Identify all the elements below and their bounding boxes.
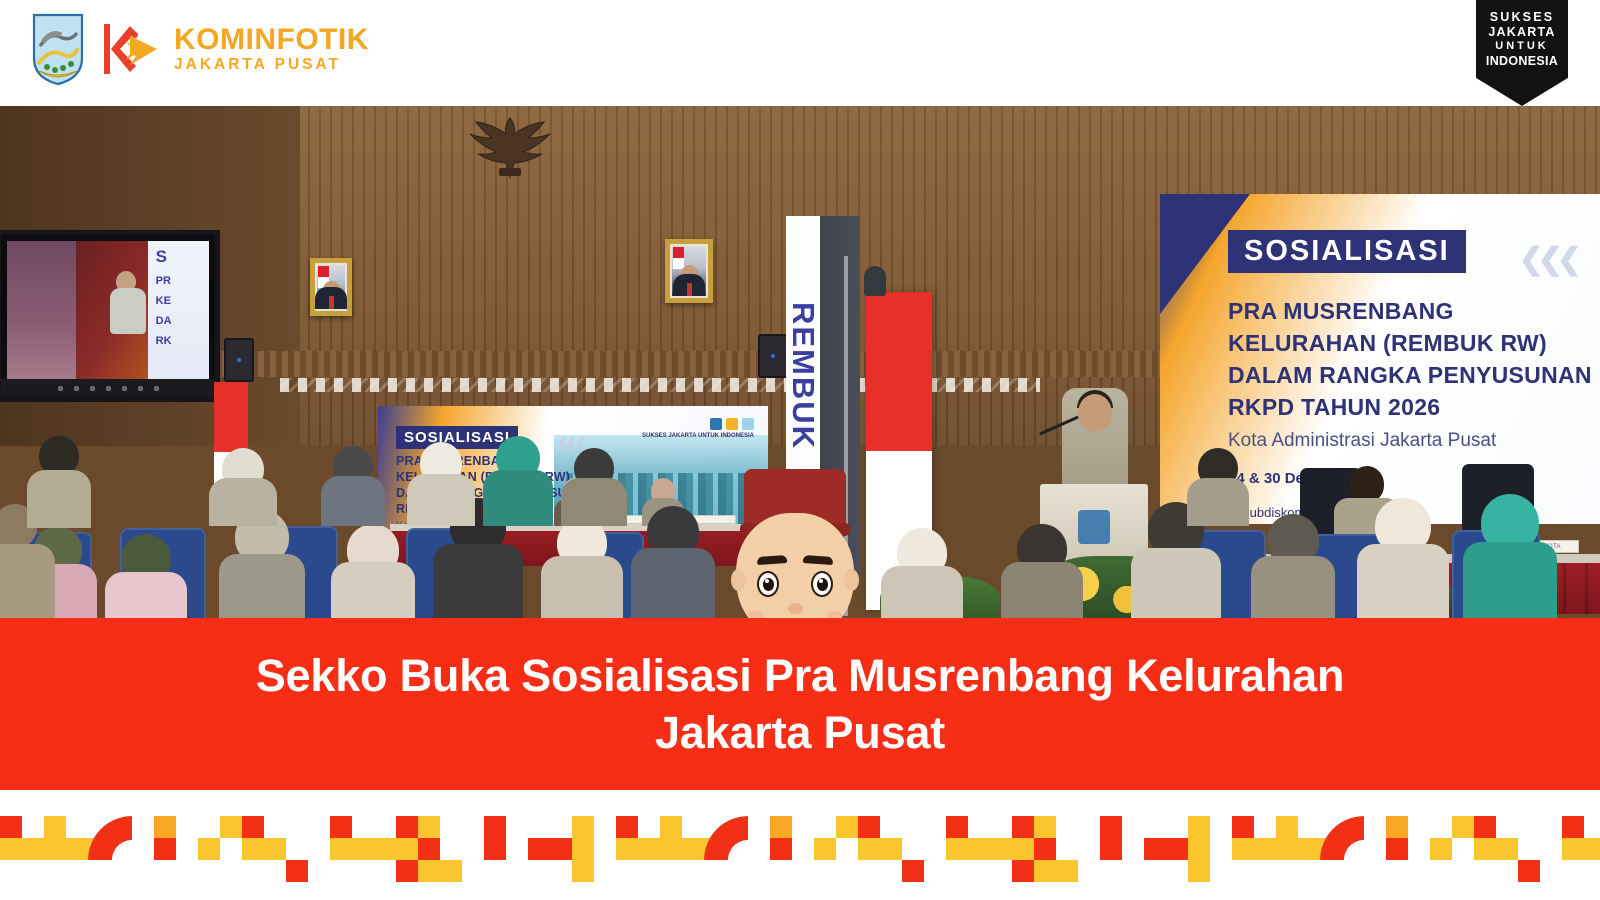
pattern-block: [330, 816, 352, 838]
pattern-block: [1188, 816, 1210, 838]
pattern-block: [814, 838, 836, 860]
pattern-block: [440, 860, 462, 882]
mascot-ear-left: [731, 569, 746, 591]
audience-person: [26, 436, 92, 528]
mascot-eye-right: [811, 571, 833, 597]
pattern-block: [418, 816, 440, 838]
pattern-block: [1034, 816, 1056, 838]
pattern-block: [528, 838, 572, 860]
pattern-block: [902, 860, 924, 882]
pattern-block: [0, 816, 22, 838]
pattern-block: [418, 838, 440, 860]
audience-person: [560, 448, 628, 526]
pattern-block: [770, 838, 792, 860]
video-call-main-view: S PR KE DA RK: [76, 241, 209, 379]
toolbar-record-icon: [138, 386, 143, 391]
speaker-box-right: [758, 334, 788, 378]
pattern-block: [1430, 838, 1452, 860]
pattern-block: [572, 816, 594, 838]
right-banner-line-2: KELURAHAN (REMBUK RW): [1228, 330, 1547, 357]
pattern-block: [572, 860, 594, 882]
pattern-block: [1012, 838, 1034, 860]
pattern-block: [880, 838, 902, 860]
pattern-block: [330, 838, 374, 860]
pattern-block: [44, 838, 66, 860]
jp-info-news-card: KOMINFOTIK JAKARTA PUSAT SUKSES JAKARTA …: [0, 0, 1600, 900]
jp-info-mascot: JP Info: [700, 461, 890, 622]
pattern-block: [836, 816, 858, 838]
audience-person: [208, 448, 278, 526]
event-photograph: S PR KE DA RK: [0, 106, 1600, 622]
pattern-block: [1012, 860, 1034, 882]
pattern-block: [154, 816, 176, 838]
toolbar-video-icon: [74, 386, 79, 391]
screen-text-l2: KE: [156, 295, 171, 307]
toolbar-participants-icon: [90, 386, 95, 391]
pattern-elbow: [88, 816, 132, 860]
video-call-toolbar: [1, 379, 215, 397]
pattern-block: [1518, 860, 1540, 882]
pattern-block: [616, 838, 660, 860]
pattern-block: [1562, 838, 1600, 860]
toolbar-mute-icon: [58, 386, 63, 391]
pattern-block: [418, 860, 440, 882]
badge-line-1: SUKSES: [1490, 11, 1555, 24]
sukses-jakarta-badge: SUKSES JAKARTA UNTUK INDONESIA: [1476, 0, 1568, 106]
jakarta-coat-of-arms-icon: [30, 12, 86, 86]
pattern-block: [484, 816, 506, 860]
pattern-block: [990, 838, 1012, 860]
pattern-block: [1100, 816, 1122, 860]
projector-screen: S PR KE DA RK: [0, 230, 220, 402]
brand-subtitle: JAKARTA PUSAT: [174, 56, 369, 73]
audience-person: [218, 510, 306, 622]
audience-person: [1250, 514, 1336, 622]
badge-line-4: INDONESIA: [1486, 55, 1558, 68]
right-banner-line-1: PRA MUSRENBANG: [1228, 298, 1454, 325]
pattern-block: [220, 816, 242, 838]
speaker-box-left: [224, 338, 254, 382]
pattern-block: [242, 838, 264, 860]
pattern-block: [858, 816, 880, 838]
pattern-block: [1386, 838, 1408, 860]
right-banner-tag: SOSIALISASI: [1228, 230, 1466, 273]
audience-person: [880, 528, 964, 622]
pattern-block: [1386, 816, 1408, 838]
audience-person: [320, 446, 386, 526]
mascot-nose: [788, 603, 803, 614]
audience-person: [1356, 498, 1450, 622]
right-banner-line-3: DALAM RANGKA PENYUSUNAN: [1228, 362, 1592, 389]
mascot-ear-right: [844, 569, 859, 591]
toolbar-share-icon: [122, 386, 127, 391]
audience-person: [482, 436, 554, 526]
pattern-block: [660, 838, 682, 860]
pattern-block: [946, 838, 990, 860]
pattern-block: [770, 816, 792, 838]
badge-line-3: UNTUK: [1495, 41, 1549, 53]
pattern-block: [286, 860, 308, 882]
audience-person: [1000, 524, 1084, 622]
headline-band: Sekko Buka Sosialisasi Pra Musrenbang Ke…: [0, 618, 1600, 790]
badge-line-2: JAKARTA: [1488, 26, 1555, 39]
presidential-portrait-right: [665, 239, 713, 303]
toolbar-chat-icon: [106, 386, 111, 391]
pattern-block: [396, 860, 418, 882]
screen-text-s: S: [156, 247, 167, 267]
jakarta-pixel-motif: [0, 816, 1600, 878]
audience-person: [1462, 494, 1558, 622]
presidential-portrait-left: [310, 258, 352, 316]
pattern-block: [1056, 860, 1078, 882]
pattern-block: [264, 838, 286, 860]
pattern-block: [1188, 860, 1210, 882]
toolbar-more-icon: [154, 386, 159, 391]
pattern-block: [374, 838, 396, 860]
pattern-block: [1034, 838, 1056, 860]
kominfotik-k-logo-icon: [100, 18, 162, 80]
pattern-block: [1188, 838, 1210, 860]
pattern-block: [396, 816, 418, 838]
audience-person: [1186, 448, 1250, 526]
pattern-block: [660, 816, 682, 838]
pattern-block: [198, 838, 220, 860]
screen-text-l1: PR: [156, 275, 171, 287]
pattern-block: [1034, 860, 1056, 882]
header-bar: KOMINFOTIK JAKARTA PUSAT SUKSES JAKARTA …: [0, 0, 1600, 106]
pattern-block: [1012, 816, 1034, 838]
video-call-sidebar: [7, 241, 76, 379]
pattern-block: [572, 838, 594, 860]
pattern-block: [0, 838, 44, 860]
pattern-elbow: [704, 816, 748, 860]
pattern-block: [1474, 816, 1496, 838]
pattern-block: [858, 838, 880, 860]
pattern-block: [1232, 816, 1254, 838]
pattern-block: [1276, 816, 1298, 838]
pattern-elbow: [1320, 816, 1364, 860]
headline-line-1: Sekko Buka Sosialisasi Pra Musrenbang Ke…: [0, 647, 1600, 704]
garuda-pancasila-emblem-icon: [455, 112, 565, 192]
pattern-block: [946, 816, 968, 838]
pattern-block: [154, 838, 176, 860]
screen-banner: S PR KE DA RK: [148, 241, 209, 379]
audience-person: [540, 518, 624, 622]
pattern-block: [1232, 838, 1276, 860]
screen-text-l3: DA: [156, 315, 172, 327]
pattern-block: [1562, 816, 1584, 838]
headline-line-2: Jakarta Pusat: [0, 704, 1600, 761]
audience-person: [330, 524, 416, 622]
pattern-block: [1452, 816, 1474, 838]
pattern-block: [1474, 838, 1496, 860]
audience-person: [104, 534, 188, 622]
pattern-block: [242, 816, 264, 838]
pattern-block: [616, 816, 638, 838]
pattern-block: [1496, 838, 1518, 860]
brand-title: KOMINFOTIK: [174, 25, 369, 56]
banner-chevron-icon: ❮❮❮: [1519, 242, 1576, 277]
pattern-block: [1144, 838, 1188, 860]
audience-person: [406, 442, 476, 526]
pattern-block: [1276, 838, 1298, 860]
brand-logo: KOMINFOTIK JAKARTA PUSAT: [30, 12, 369, 86]
screen-text-l4: RK: [156, 335, 172, 347]
footer-pattern-band: [0, 790, 1600, 900]
pattern-block: [44, 816, 66, 838]
mascot-eye-left: [757, 571, 779, 597]
pattern-block: [396, 838, 418, 860]
